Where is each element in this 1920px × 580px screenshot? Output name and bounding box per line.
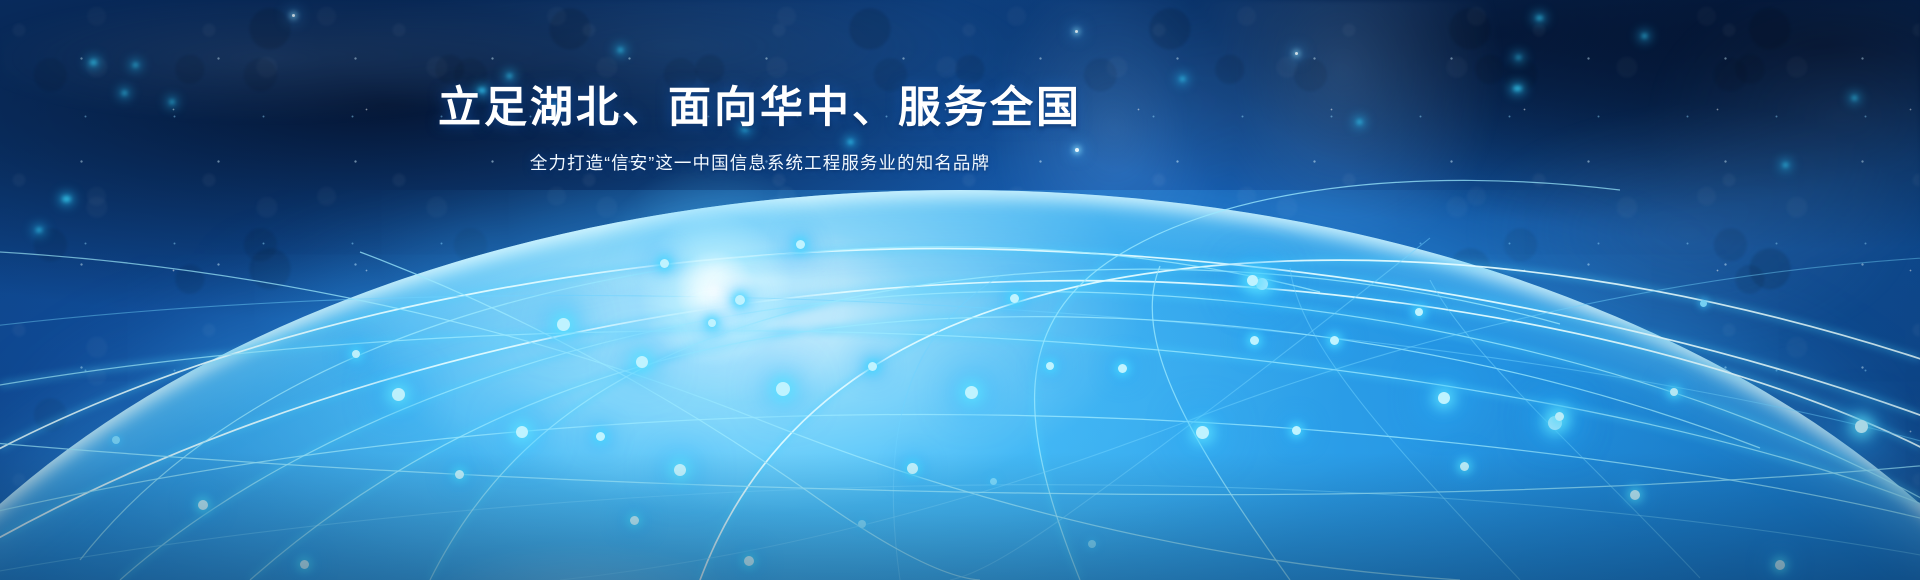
hero-banner: 立足湖北、面向华中、服务全国 全力打造“信安”这一中国信息系统工程服务业的知名品… bbox=[0, 0, 1920, 580]
banner-main-title: 立足湖北、面向华中、服务全国 bbox=[0, 84, 1520, 134]
banner-text-block: 立足湖北、面向华中、服务全国 全力打造“信安”这一中国信息系统工程服务业的知名品… bbox=[0, 84, 1520, 175]
banner-sub-title: 全力打造“信安”这一中国信息系统工程服务业的知名品牌 bbox=[0, 150, 1520, 175]
